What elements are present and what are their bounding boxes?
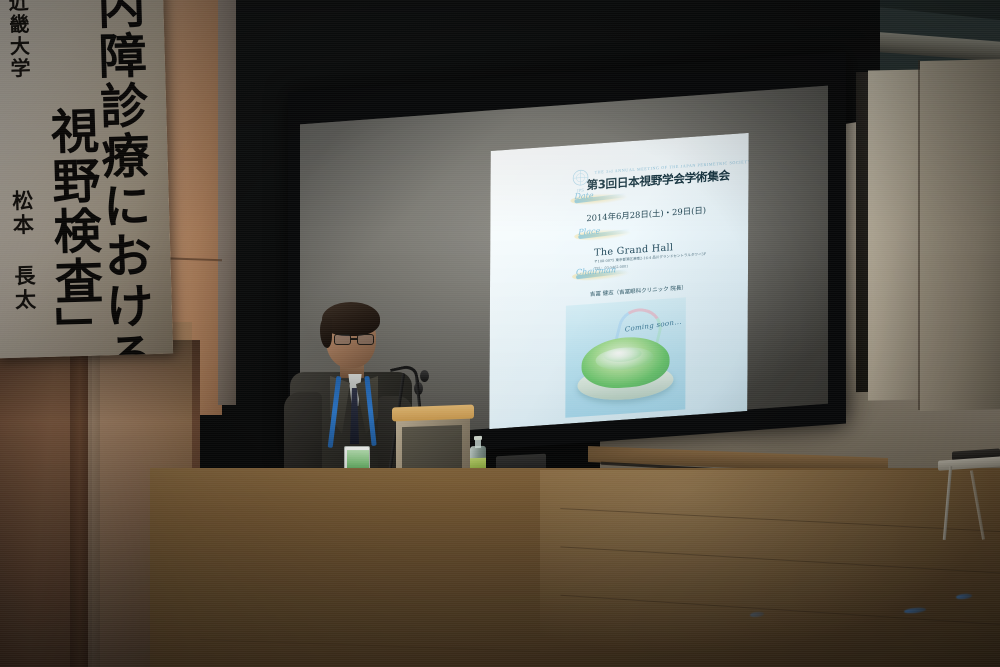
projected-slide: JPS THE 3rd ANNUAL MEETING OF THE JAPAN …: [489, 133, 748, 429]
microphone-capsule-second: [420, 370, 429, 382]
badge-graphic: [347, 450, 369, 470]
speaker-hair-side: [320, 318, 332, 348]
wood-column-edge: [218, 0, 236, 405]
lecture-title-banner: 内障診療における 視野検査」 近畿大学 松本 長太: [0, 0, 173, 358]
photo-scene: JPS THE 3rd ANNUAL MEETING OF THE JAPAN …: [0, 0, 1000, 667]
slide-chairman-value: 吉冨 健志（吉冨眼科クリニック 院長）: [590, 283, 687, 298]
monitor-screen: [402, 425, 462, 471]
wall-panel-seam: [918, 60, 920, 410]
eyeglass-lens-left: [334, 334, 351, 345]
bottle-cap: [474, 436, 482, 440]
eyeglass-lens-right: [357, 334, 374, 345]
wall-panel: [920, 59, 1000, 411]
slide-date-value: 2014年6月28日(土)・29日(日): [586, 204, 706, 224]
slide-canvas: JPS THE 3rd ANNUAL MEETING OF THE JAPAN …: [489, 133, 748, 429]
island-illustration: Coming soon...: [565, 297, 686, 417]
wall-panel: [868, 70, 924, 401]
slide-section-label-place: Place: [578, 226, 600, 237]
banner-shading: [0, 0, 173, 358]
speaker-eyeglasses-icon: [334, 334, 376, 346]
slide-section-label-date: Date: [574, 191, 593, 201]
monitor-top-trim: [392, 405, 474, 422]
